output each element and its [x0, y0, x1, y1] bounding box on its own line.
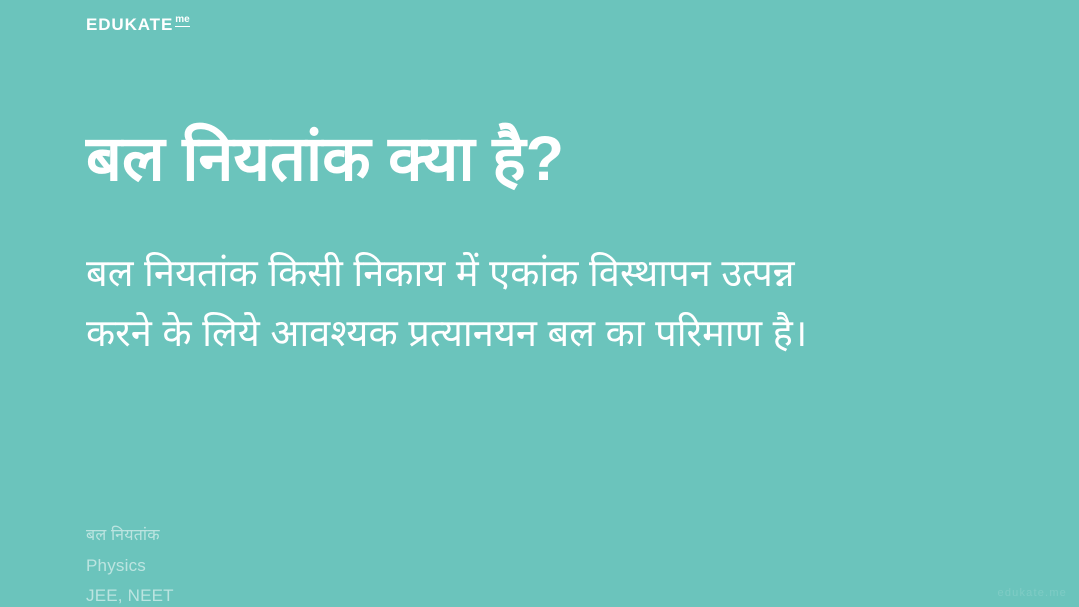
body-line: बल नियतांक किसी निकाय में एकांक विस्थापन…: [86, 244, 986, 304]
footer-topic: बल नियतांक: [86, 528, 174, 544]
slide-heading: बल नियतांक क्या है?: [86, 122, 986, 196]
brand-logo-name: EDUKATE: [86, 16, 173, 33]
body-line: करने के लिये आवश्यक प्रत्यानयन बल का परि…: [86, 304, 986, 364]
slide-canvas: EDUKATE me बल नियतांक क्या है? बल नियतां…: [0, 0, 1079, 607]
footer-subject: Physics: [86, 557, 174, 574]
footer-meta: बल नियतांक Physics JEE, NEET: [86, 528, 174, 604]
corner-watermark: edukate.me: [998, 587, 1067, 599]
brand-logo-suffix: me: [175, 15, 189, 27]
brand-logo: EDUKATE me: [86, 16, 190, 33]
slide-body-text: बल नियतांक किसी निकाय में एकांक विस्थापन…: [86, 244, 986, 364]
footer-exams: JEE, NEET: [86, 587, 174, 604]
